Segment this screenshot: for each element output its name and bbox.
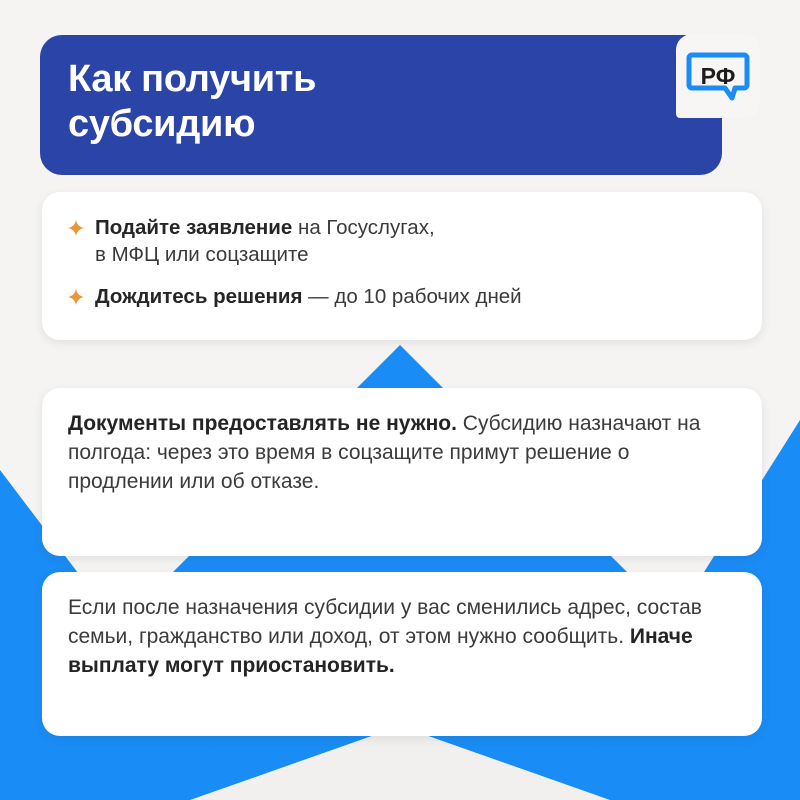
card-change-notice: Если после назначения субсидии у вас сме… bbox=[42, 572, 762, 736]
card-application-steps: Подайте заявление на Госуслугах, в МФЦ и… bbox=[42, 192, 762, 340]
speech-bubble-icon: РФ bbox=[685, 45, 751, 107]
page-title: Как получить субсидию bbox=[68, 57, 628, 147]
list-item-rest: на Госуслугах, bbox=[292, 216, 434, 239]
list-item-line2: в МФЦ или соцзащите bbox=[95, 243, 309, 266]
card-no-documents-note: Документы предоставлять не нужно. Субсид… bbox=[42, 388, 762, 556]
list-item-bold: Дождитесь решения bbox=[95, 285, 302, 308]
note-bold-lead: Документы предоставлять не нужно. bbox=[68, 412, 457, 435]
notice-paragraph: Если после назначения субсидии у вас сме… bbox=[68, 594, 736, 680]
list-item: Дождитесь решения — до 10 рабочих дней bbox=[68, 283, 736, 310]
list-item-text: Дождитесь решения — до 10 рабочих дней bbox=[95, 283, 522, 310]
notice-body: Если после назначения субсидии у вас сме… bbox=[68, 596, 702, 648]
note-paragraph: Документы предоставлять не нужно. Субсид… bbox=[68, 410, 736, 496]
list-item-rest: — до 10 рабочих дней bbox=[302, 285, 521, 308]
orange-diamond-icon bbox=[68, 289, 84, 305]
rf-logo-badge: РФ bbox=[676, 34, 760, 118]
list-item-bold: Подайте заявление bbox=[95, 216, 292, 239]
header-banner: Как получить субсидию bbox=[40, 35, 722, 175]
rf-logo-text: РФ bbox=[701, 63, 736, 89]
list-item-text: Подайте заявление на Госуслугах, в МФЦ и… bbox=[95, 214, 435, 269]
list-item: Подайте заявление на Госуслугах, в МФЦ и… bbox=[68, 214, 736, 269]
orange-diamond-icon bbox=[68, 220, 84, 236]
